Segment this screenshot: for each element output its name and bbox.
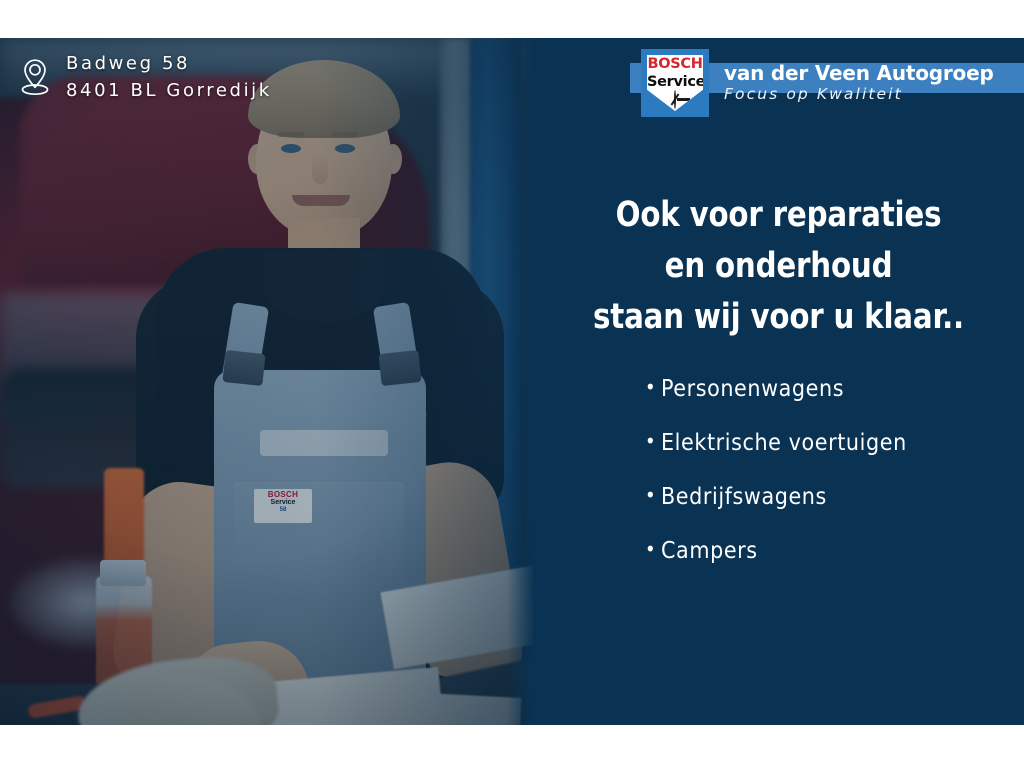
photo-vignette <box>0 38 533 725</box>
bosch-service-wordmark: Service <box>647 74 705 90</box>
bosch-shield-shape: BOSCH Service <box>647 55 703 111</box>
page-top-margin <box>0 0 1024 38</box>
list-item: Elektrische voertuigen <box>533 432 1024 455</box>
headline-line-2: en onderhoud <box>550 241 1007 292</box>
company-tagline: Focus op Kwaliteit <box>724 85 903 103</box>
company-name: van der Veen Autogroep <box>724 61 994 85</box>
workshop-photo: BOSCH Service 58 <box>0 38 533 725</box>
headline-line-3: staan wij voor u klaar.. <box>550 292 1007 343</box>
photo-scene: BOSCH Service 58 <box>0 38 533 725</box>
address-postal-city: 8401 BL Gorredijk <box>66 80 272 101</box>
bosch-service-logo: BOSCH Service <box>641 49 709 117</box>
map-pin-icon <box>18 56 52 98</box>
headline: Ook voor reparaties en onderhoud staan w… <box>550 190 1007 343</box>
brand-text-block: van der Veen Autogroep Focus op Kwalitei… <box>724 49 1024 104</box>
photo-edge-fade <box>507 38 533 725</box>
bosch-armature-icon <box>674 90 676 109</box>
info-panel: BOSCH Service van der Veen Autogroep Foc… <box>533 38 1024 725</box>
service-list: Personenwagens Elektrische voertuigen Be… <box>533 378 1024 594</box>
list-item: Bedrijfswagens <box>533 486 1024 509</box>
address-block: Badweg 58 8401 BL Gorredijk <box>18 50 272 104</box>
address-street: Badweg 58 <box>66 53 190 74</box>
bosch-wordmark: BOSCH <box>647 56 702 72</box>
promo-banner: BOSCH Service 58 <box>0 38 1024 725</box>
page-bottom-margin <box>0 725 1024 768</box>
list-item: Personenwagens <box>533 378 1024 401</box>
headline-line-1: Ook voor reparaties <box>550 190 1007 241</box>
brand-header: BOSCH Service van der Veen Autogroep Foc… <box>641 49 1024 117</box>
address-text: Badweg 58 8401 BL Gorredijk <box>66 50 272 104</box>
list-item: Campers <box>533 540 1024 563</box>
